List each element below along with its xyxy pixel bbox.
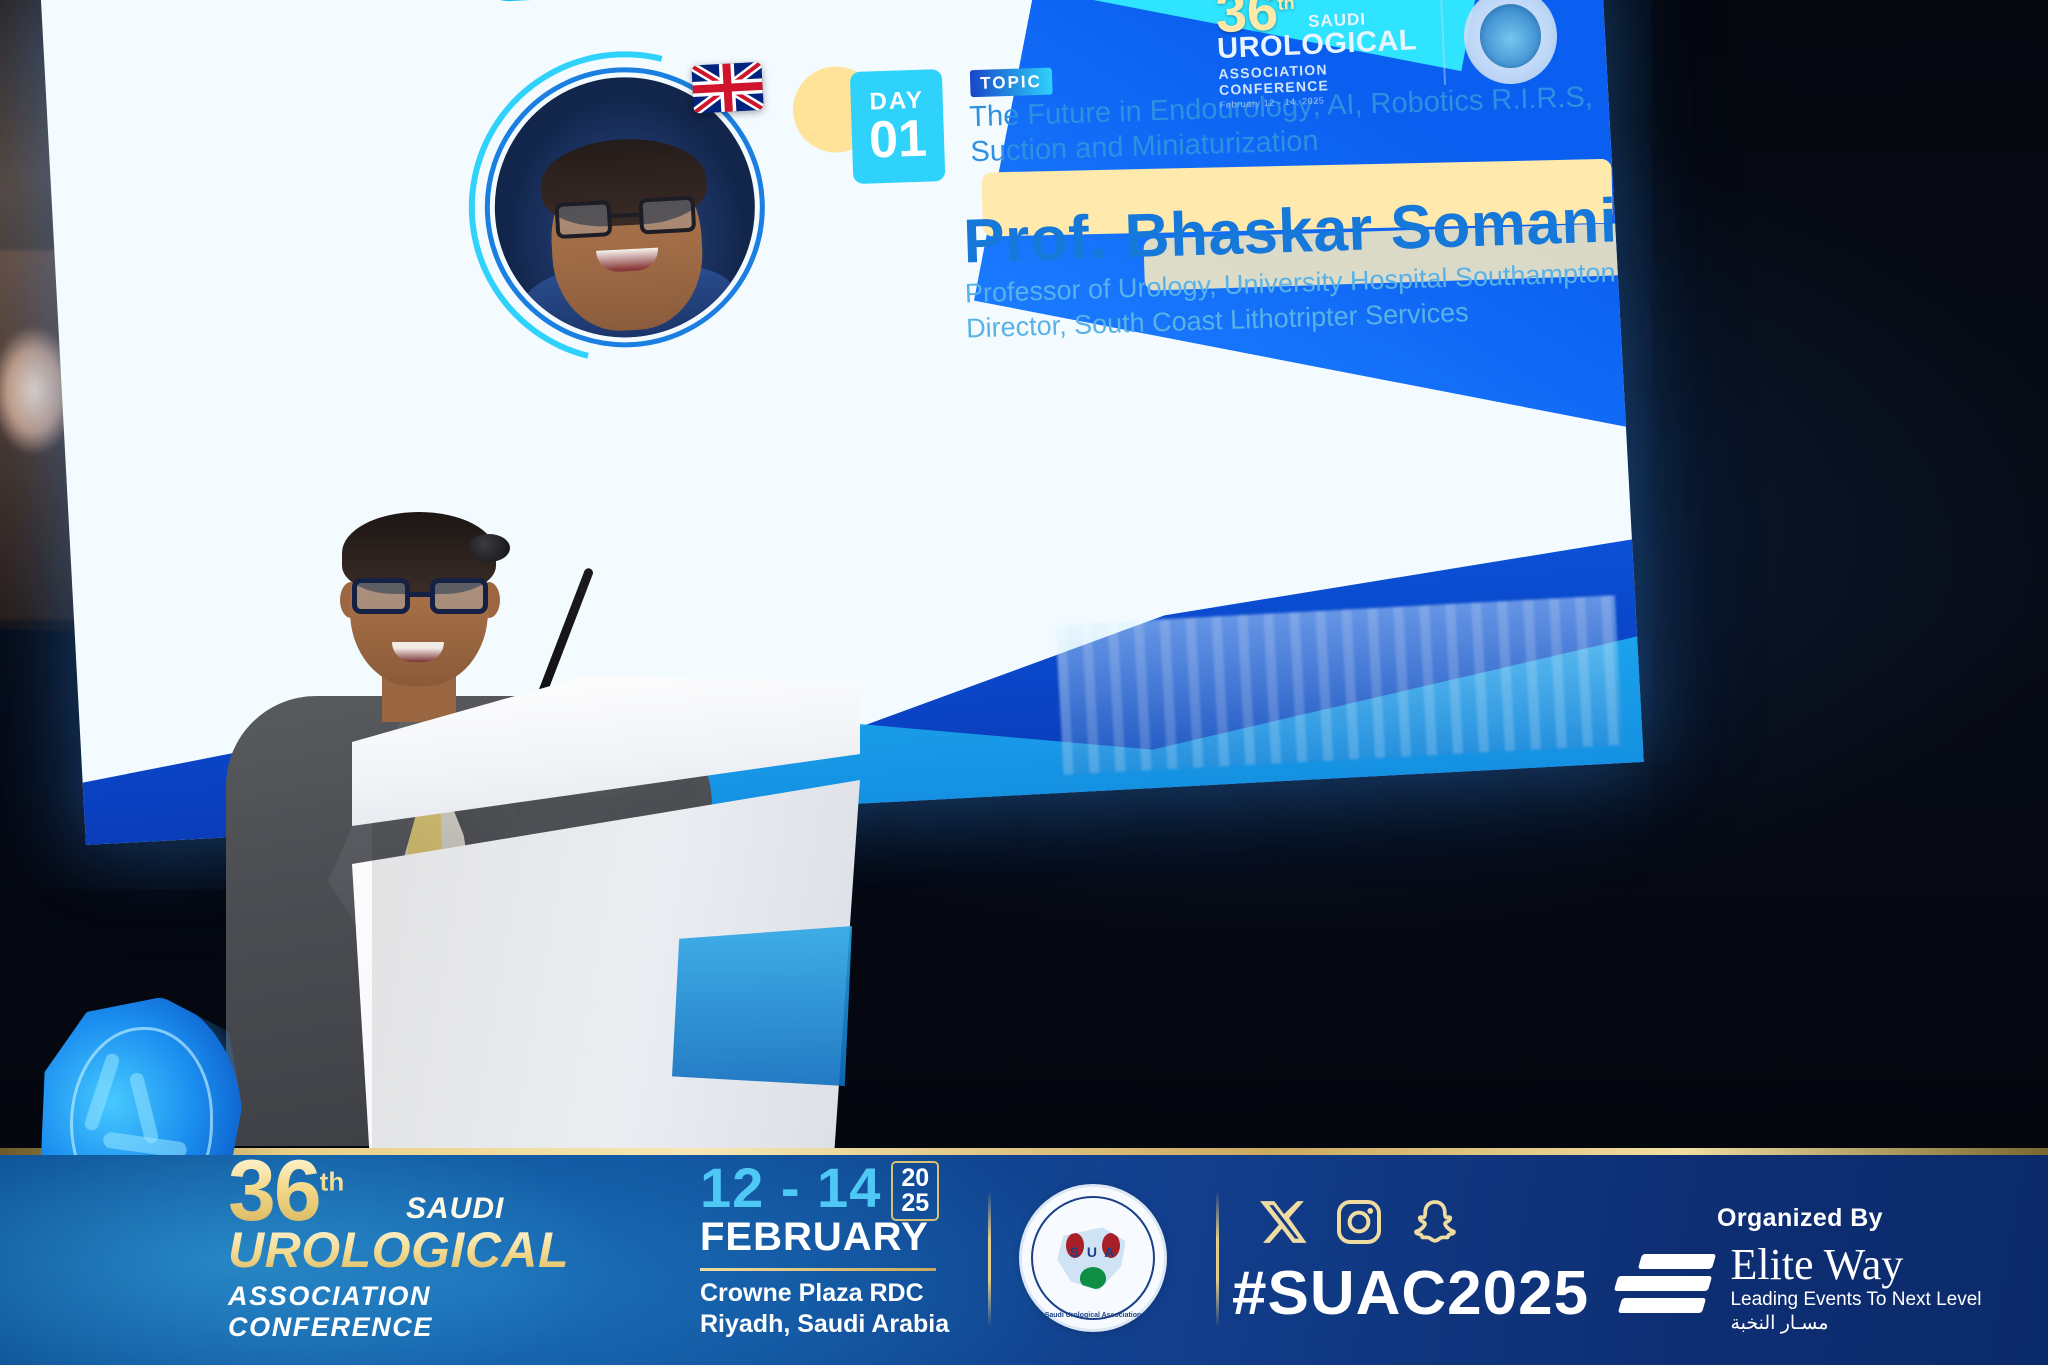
slide-logo-divider	[1440, 0, 1446, 85]
banner-logo-association: ASSOCIATION CONFERENCE	[228, 1281, 608, 1343]
banner-divider-2	[1216, 1191, 1219, 1327]
conference-photo: 02 | ENDOUROLOGY AND MIS	[0, 0, 2048, 1365]
banner-year-bottom: 25	[901, 1191, 929, 1216]
banner-venue-line-1: Crowne Plaza RDC	[700, 1278, 970, 1309]
day-number: 01	[868, 115, 927, 166]
banner-logo-saudi: SAUDI	[406, 1192, 504, 1226]
organizer-tagline: Leading Events To Next Level	[1730, 1289, 1981, 1311]
organizer-arabic-name: مسـار النخبة	[1730, 1312, 1981, 1335]
podium-screen-panel	[672, 926, 852, 1086]
sua-subtitle: Saudi Urological Association	[1045, 1312, 1142, 1319]
banner-logo-number: 36th	[228, 1156, 344, 1227]
sua-initials: S U A	[1070, 1244, 1117, 1260]
organizer-name: Elite Way	[1730, 1240, 1903, 1289]
banner-date-rule	[700, 1268, 936, 1271]
speaker-glasses	[352, 578, 488, 618]
sua-emblem-icon: S U A Saudi Urological Association	[1022, 1187, 1164, 1329]
slide-photo-strip	[1056, 595, 1623, 775]
slide-logo-ordinal: th	[1277, 0, 1295, 14]
banner-conference-logo: 36th SAUDI UROLOGICAL ASSOCIATION CONFER…	[228, 1156, 608, 1343]
banner-logo-ordinal: th	[320, 1167, 345, 1197]
microphone-icon	[468, 534, 510, 562]
day-badge: DAY 01	[850, 69, 946, 184]
instagram-icon[interactable]	[1334, 1197, 1384, 1247]
speaker-portrait	[478, 60, 773, 355]
snapchat-icon[interactable]	[1410, 1197, 1460, 1247]
banner-divider-1	[988, 1191, 991, 1327]
banner-date-year: 20 25	[891, 1161, 939, 1221]
banner-date-month: FEBRUARY	[700, 1215, 970, 1260]
event-hashtag: #SUAC2025	[1232, 1258, 1589, 1329]
social-icons	[1258, 1197, 1460, 1247]
banner-date-block: 12 - 14 20 25 FEBRUARY Crowne Plaza RDC …	[700, 1161, 970, 1339]
slide-logo-saudi: SAUDI	[1308, 10, 1367, 33]
organized-by-label: Organized By	[1600, 1204, 2000, 1233]
eliteway-mark-icon	[1618, 1252, 1714, 1326]
banner-date-days: 12 - 14	[700, 1161, 881, 1214]
uk-flag-icon	[691, 62, 763, 114]
slide-conference-logo: 36th SAUDI UROLOGICAL ASSOCIATION CONFER…	[1214, 0, 1559, 114]
portrait-glasses	[555, 196, 697, 243]
topic-chip: TOPIC	[970, 68, 1052, 98]
slide-sua-emblem-icon	[1461, 0, 1559, 86]
x-twitter-icon[interactable]	[1258, 1197, 1308, 1247]
banner-year-top: 20	[901, 1166, 929, 1191]
banner-venue-line-2: Riyadh, Saudi Arabia	[700, 1309, 970, 1340]
organizer-block: Organized By Elite Way Leading Events To…	[1600, 1204, 2000, 1335]
bottom-banner: 36th SAUDI UROLOGICAL ASSOCIATION CONFER…	[0, 1155, 2048, 1365]
